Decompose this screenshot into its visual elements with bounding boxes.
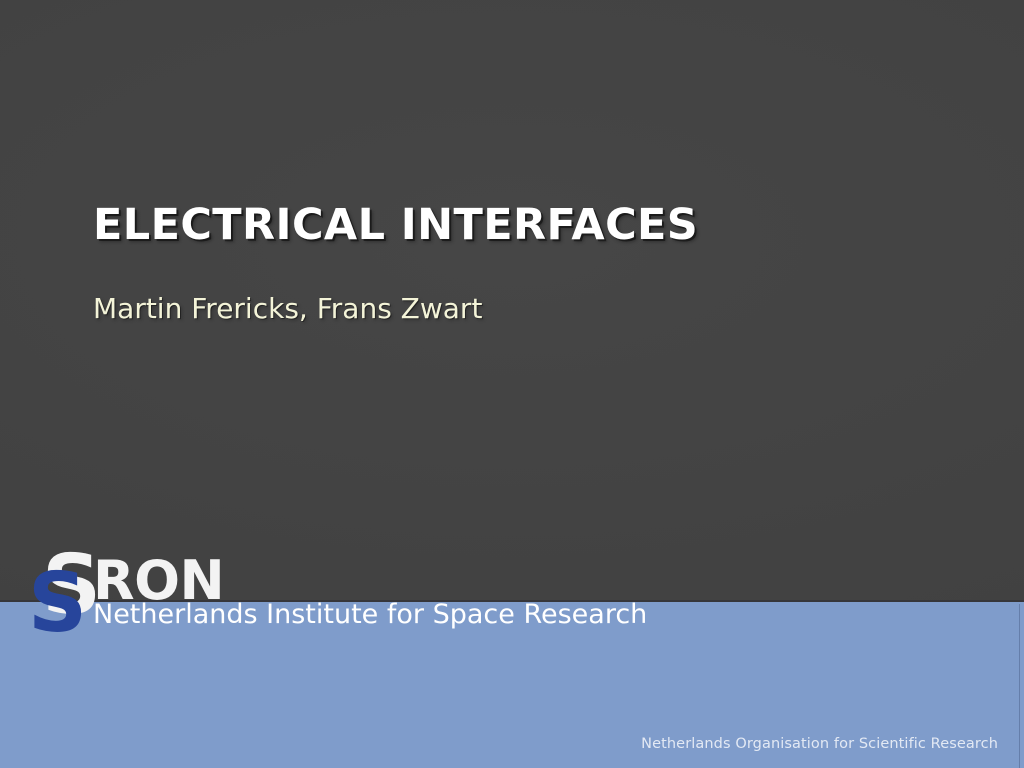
slide-title: ELECTRICAL INTERFACES — [93, 203, 953, 248]
sron-tagline: Netherlands Institute for Space Research — [93, 601, 647, 628]
title-slide: ELECTRICAL INTERFACES Martin Frericks, F… — [0, 0, 1024, 768]
sron-s-blue-layer: S — [28, 563, 87, 645]
sron-logo: S S RON Netherlands Institute for Space … — [28, 543, 588, 643]
nwo-organisation-line: Netherlands Organisation for Scientific … — [641, 737, 998, 752]
slide-subtitle-authors: Martin Frericks, Frans Zwart — [93, 293, 953, 325]
